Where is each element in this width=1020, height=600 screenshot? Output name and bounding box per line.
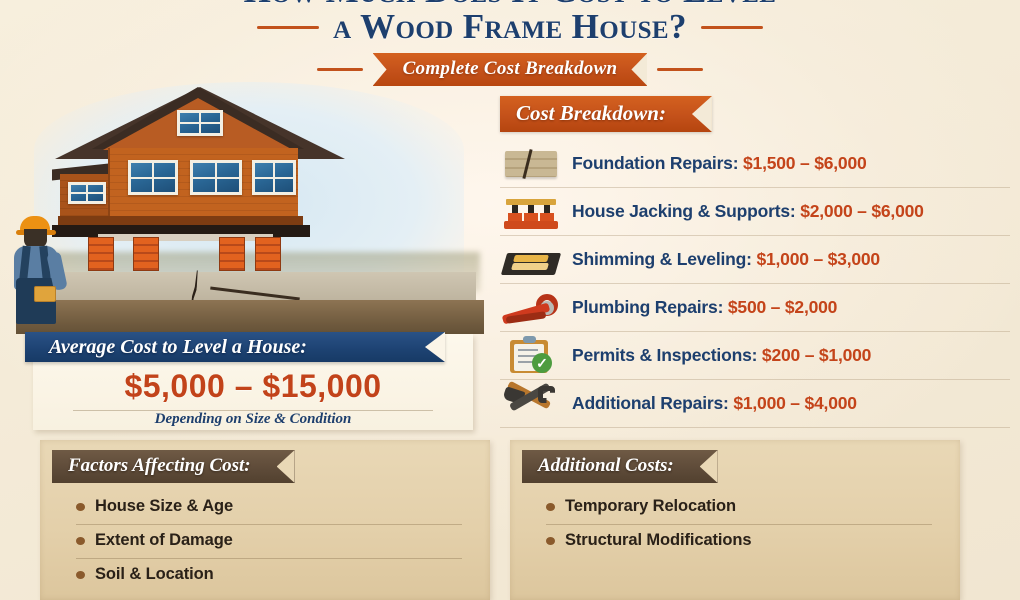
list-item-label: House Size & Age [95,497,233,516]
cost-item-price: $1,000 – $4,000 [733,393,857,413]
cost-item-label: Foundation Repairs: [572,153,738,173]
cost-item-price: $2,000 – $6,000 [800,201,924,221]
additional-costs-list: Temporary Relocation Structural Modifica… [546,491,932,558]
cost-breakdown-heading: Cost Breakdown: [500,96,712,132]
house-sill [58,216,303,225]
list-item: Structural Modifications [546,525,932,558]
bullet-icon [76,503,85,511]
page-title-line2: a Wood Frame House? [333,10,687,44]
house-jack-supports-icon [500,191,562,231]
subtitle-rule-left [317,68,363,71]
cost-item-price: $200 – $1,000 [762,345,871,365]
average-cost-card: Average Cost to Level a House: $5,000 – … [33,334,473,430]
soil-layer [16,300,484,334]
cost-item-label: Plumbing Repairs: [572,297,723,317]
average-cost-heading: Average Cost to Level a House: [25,332,445,362]
header: How Much Does It Cost to Level a Wood Fr… [0,0,1020,86]
additional-costs-card: Additional Costs: Temporary Relocation S… [510,440,960,600]
cribbing-block-1 [88,237,114,271]
cost-item-price: $1,500 – $6,000 [743,153,867,173]
cost-item-price: $500 – $2,000 [728,297,837,317]
cost-item-label: Shimming & Leveling: [572,249,752,269]
cost-row: Additional Repairs: $1,000 – $4,000 [500,380,1010,428]
list-item-label: Structural Modifications [565,531,751,550]
hammer-wrench-icon [500,383,562,423]
list-item: House Size & Age [76,491,462,525]
cribbing-block-3 [219,237,245,271]
title-rule-right [701,26,763,29]
factors-list: House Size & Age Extent of Damage Soil &… [76,491,462,592]
window-icon-2 [190,160,242,195]
bullet-icon [76,571,85,579]
cost-row: Foundation Repairs: $1,500 – $6,000 [500,140,1010,188]
list-item-label: Temporary Relocation [565,497,736,516]
window-icon-wing [68,182,106,204]
cracked-foundation-icon [500,143,562,183]
subtitle-rule-right [657,68,703,71]
page-title-row2: a Wood Frame House? [0,10,1020,44]
cost-row: ✓ Permits & Inspections: $200 – $1,000 [500,332,1010,380]
list-item: Extent of Damage [76,525,462,559]
attic-window-icon [177,110,223,136]
list-item: Soil & Location [76,559,462,592]
bullet-icon [546,537,555,545]
cost-item-label: Additional Repairs: [572,393,729,413]
tool-belt-icon [34,286,56,302]
cost-item-label: House Jacking & Supports: [572,201,796,221]
average-cost-note: Depending on Size & Condition [33,411,473,428]
list-item-label: Extent of Damage [95,531,233,550]
cost-row: Plumbing Repairs: $500 – $2,000 [500,284,1010,332]
list-item-label: Soil & Location [95,565,214,584]
cost-breakdown-panel: Cost Breakdown: Foundation Repairs: $1,5… [500,96,1010,428]
factors-heading: Factors Affecting Cost: [52,450,295,483]
average-cost-price: $5,000 – $15,000 [33,368,473,405]
additional-costs-heading: Additional Costs: [522,450,718,483]
steel-beam [98,234,273,241]
bullet-icon [546,503,555,511]
house-illustration [0,82,488,334]
window-icon-1 [128,160,178,195]
pipe-wrench-icon [500,287,562,327]
worker-figure [8,216,68,326]
cost-row: House Jacking & Supports: $2,000 – $6,00… [500,188,1010,236]
cost-row: Shimming & Leveling: $1,000 – $3,000 [500,236,1010,284]
list-item: Temporary Relocation [546,491,932,525]
cribbing-block-4 [255,237,281,271]
cost-item-label: Permits & Inspections: [572,345,757,365]
infographic-root: How Much Does It Cost to Level a Wood Fr… [0,0,1020,600]
clipboard-check-icon: ✓ [500,335,562,375]
factors-affecting-cost-card: Factors Affecting Cost: House Size & Age… [40,440,490,600]
concrete-foundation [24,272,476,302]
window-icon-3 [252,160,296,195]
bullet-icon [76,537,85,545]
cost-item-price: $1,000 – $3,000 [756,249,880,269]
cribbing-block-2 [133,237,159,271]
shims-leveling-icon [500,239,562,279]
cost-breakdown-list: Foundation Repairs: $1,500 – $6,000 Hous… [500,140,1010,428]
title-rule-left [257,26,319,29]
